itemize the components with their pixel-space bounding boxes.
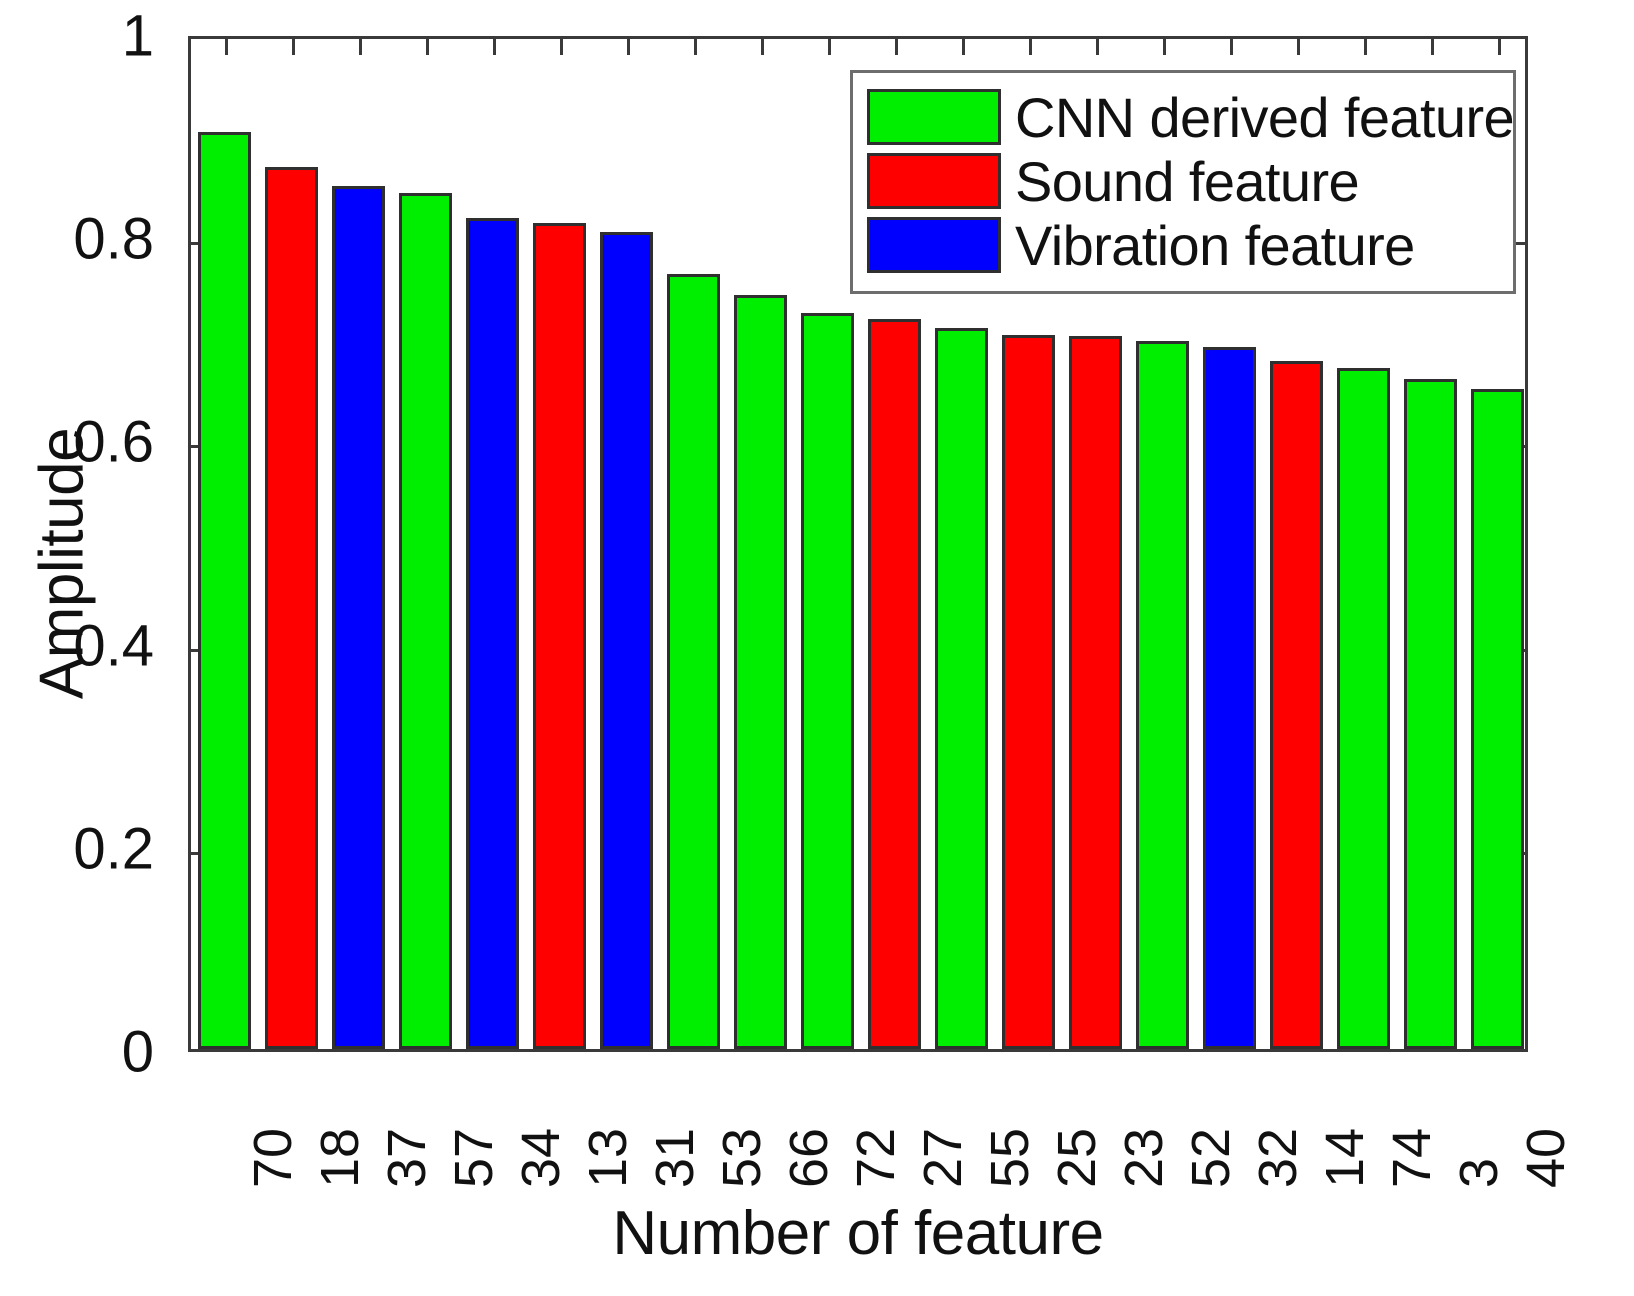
x-tick-label: 23 (1113, 1128, 1175, 1188)
bar (1136, 341, 1190, 1049)
bar-chart-figure: Amplitude 00.20.40.60.81 701837573413315… (0, 0, 1634, 1296)
bar (466, 218, 520, 1049)
bar (734, 295, 788, 1049)
y-tick-label: 0.8 (73, 206, 154, 273)
x-tick-label: 18 (309, 1128, 371, 1188)
x-tick-label: 27 (912, 1128, 974, 1188)
x-axis-tick-labels: 701837573413315366722755252352321474340 (188, 1060, 1528, 1190)
y-tick-label: 0 (122, 1019, 154, 1086)
legend-label: Sound feature (1015, 149, 1359, 214)
y-tick-label: 0.6 (73, 409, 154, 476)
bar (1069, 336, 1123, 1049)
bar (1471, 389, 1525, 1049)
bar (332, 186, 386, 1049)
x-tick-label: 32 (1247, 1128, 1309, 1188)
legend-label: Vibration feature (1015, 213, 1415, 278)
legend-swatch (867, 217, 1001, 273)
bar (399, 193, 453, 1049)
x-tick-label: 52 (1180, 1128, 1242, 1188)
x-tick-label: 13 (577, 1128, 639, 1188)
x-tick-label: 31 (644, 1128, 706, 1188)
x-axis-title: Number of feature (188, 1198, 1528, 1269)
chart-legend: CNN derived featureSound featureVibratio… (850, 70, 1516, 294)
bar (600, 232, 654, 1049)
x-tick-label: 72 (845, 1128, 907, 1188)
legend-swatch (867, 153, 1001, 209)
bar (1404, 379, 1458, 1049)
x-tick-label: 34 (510, 1128, 572, 1188)
x-tick-label: 14 (1314, 1128, 1376, 1188)
bar (667, 274, 721, 1049)
bar (1002, 335, 1056, 1049)
y-axis-tick-labels: 00.20.40.60.81 (0, 0, 168, 1296)
legend-item: Sound feature (867, 149, 1503, 213)
bar (801, 313, 855, 1049)
x-tick-label: 74 (1381, 1128, 1443, 1188)
bar (265, 167, 319, 1049)
x-tick-label: 55 (979, 1128, 1041, 1188)
x-tick-label: 66 (778, 1128, 840, 1188)
x-tick-label: 40 (1515, 1128, 1577, 1188)
x-tick-label: 57 (443, 1128, 505, 1188)
x-tick-label: 3 (1448, 1158, 1510, 1188)
bar (935, 328, 989, 1049)
x-tick-label: 70 (242, 1128, 304, 1188)
bar (533, 223, 587, 1049)
bar (198, 132, 252, 1049)
bar (1337, 368, 1391, 1049)
x-tick-label: 53 (711, 1128, 773, 1188)
bar (1270, 361, 1324, 1049)
y-tick-label: 1 (122, 3, 154, 70)
legend-label: CNN derived feature (1015, 85, 1514, 150)
y-tick-label: 0.4 (73, 612, 154, 679)
x-tick-label: 25 (1046, 1128, 1108, 1188)
legend-item: Vibration feature (867, 213, 1503, 277)
bar (1203, 347, 1257, 1049)
bar (868, 319, 922, 1050)
y-tick-label: 0.2 (73, 815, 154, 882)
legend-item: CNN derived feature (867, 85, 1503, 149)
x-tick-label: 37 (376, 1128, 438, 1188)
legend-swatch (867, 89, 1001, 145)
